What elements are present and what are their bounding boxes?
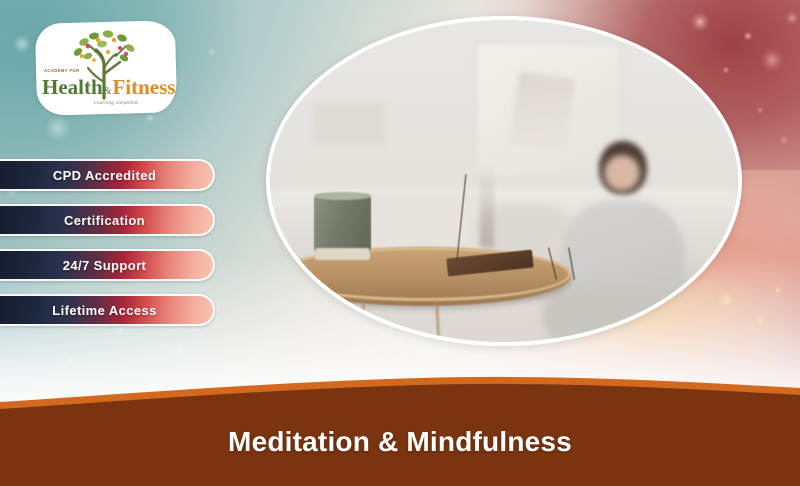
badge-label: CPD Accredited xyxy=(53,168,156,183)
hero-image-oval xyxy=(266,16,742,346)
logo-word-health: Health xyxy=(42,75,103,99)
feature-badge-list: CPD Accredited Certification 24/7 Suppor… xyxy=(0,159,215,339)
logo-top-text: ACADEMY FOR xyxy=(44,68,80,73)
brand-logo[interactable]: ACADEMY FOR Health&Fitness Learning simp… xyxy=(36,22,176,114)
photo-wall-art-detail xyxy=(509,72,576,152)
badge-cpd-accredited[interactable]: CPD Accredited xyxy=(0,159,215,191)
hero-image-frame xyxy=(266,16,742,346)
photo-wall-vent xyxy=(314,102,385,145)
photo-person-face xyxy=(604,155,640,191)
badge-certification[interactable]: Certification xyxy=(0,204,215,236)
badge-label: Certification xyxy=(64,213,145,228)
course-banner: ACADEMY FOR Health&Fitness Learning simp… xyxy=(0,0,800,486)
photo-incense-smoke xyxy=(480,161,494,247)
photo-person-legs xyxy=(542,287,704,346)
badge-lifetime-access[interactable]: Lifetime Access xyxy=(0,294,215,326)
meditation-room-photo xyxy=(266,16,742,346)
logo-ampersand: & xyxy=(103,86,113,97)
badge-support[interactable]: 24/7 Support xyxy=(0,249,215,281)
logo-wordmark: Health&Fitness xyxy=(42,77,172,98)
badge-label: 24/7 Support xyxy=(63,258,147,273)
course-title: Meditation & Mindfulness xyxy=(0,426,800,458)
footer-bar: Meditation & Mindfulness xyxy=(0,366,800,486)
photo-vase-base xyxy=(315,248,370,260)
logo-word-fitness: Fitness xyxy=(112,75,175,99)
badge-label: Lifetime Access xyxy=(52,303,157,318)
logo-tagline: Learning simplified xyxy=(94,100,138,105)
